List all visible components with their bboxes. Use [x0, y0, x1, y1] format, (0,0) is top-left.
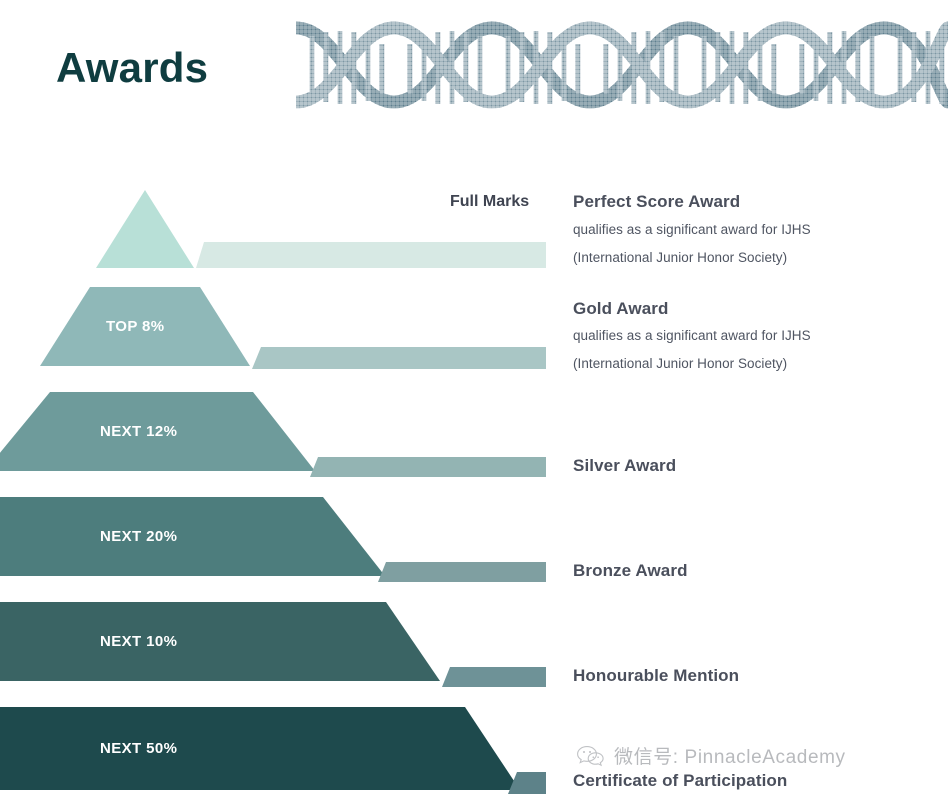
connector-bar-2 — [252, 347, 546, 369]
pyramid-tier-3[interactable]: NEXT 12% — [0, 392, 315, 471]
full-marks-eyebrow: Full Marks — [450, 193, 529, 211]
award-title-gold: Gold Award — [573, 299, 668, 319]
connector-bar-3 — [310, 457, 546, 477]
tier-5-shape — [0, 602, 440, 681]
pyramid-tier-5[interactable]: NEXT 10% — [0, 602, 440, 681]
pyramid-tier-4[interactable]: NEXT 20% — [0, 497, 385, 576]
wechat-watermark-text: 微信号: PinnacleAcademy — [614, 742, 846, 769]
award-sub1-gold: qualifies as a significant award for IJH… — [573, 328, 811, 343]
awards-infographic: Awards — [0, 0, 948, 801]
award-title-bronze: Bronze Award — [573, 561, 688, 581]
pyramid-tier-6-label: NEXT 50% — [100, 740, 177, 757]
award-title-certificate-participation: Certificate of Participation — [573, 771, 787, 791]
connector-bar-1 — [196, 242, 546, 268]
pyramid-tier-2[interactable]: TOP 8% — [40, 287, 250, 366]
pyramid-tier-4-label: NEXT 20% — [100, 528, 177, 545]
pyramid-tier-6[interactable]: NEXT 50% — [0, 707, 520, 790]
wechat-watermark: 微信号: PinnacleAcademy — [576, 742, 846, 769]
connector-bar-5 — [442, 667, 546, 687]
tier-1-shape — [96, 190, 194, 268]
award-title-honourable-mention: Honourable Mention — [573, 666, 739, 686]
pyramid-tier-1[interactable] — [96, 190, 194, 268]
tier-6-shape — [0, 707, 520, 790]
award-title-silver: Silver Award — [573, 456, 676, 476]
pyramid-tier-3-label: NEXT 12% — [100, 423, 177, 440]
pyramid-tier-2-label: TOP 8% — [106, 318, 165, 335]
award-sub1-perfect-score: qualifies as a significant award for IJH… — [573, 222, 811, 237]
wechat-icon — [576, 744, 606, 768]
connector-bar-6 — [508, 772, 546, 794]
award-title-perfect-score: Perfect Score Award — [573, 192, 740, 212]
award-sub2-perfect-score: (International Junior Honor Society) — [573, 250, 787, 265]
connector-bar-4 — [378, 562, 546, 582]
award-sub2-gold: (International Junior Honor Society) — [573, 356, 787, 371]
pyramid-tier-5-label: NEXT 10% — [100, 633, 177, 650]
tier-4-shape — [0, 497, 385, 576]
